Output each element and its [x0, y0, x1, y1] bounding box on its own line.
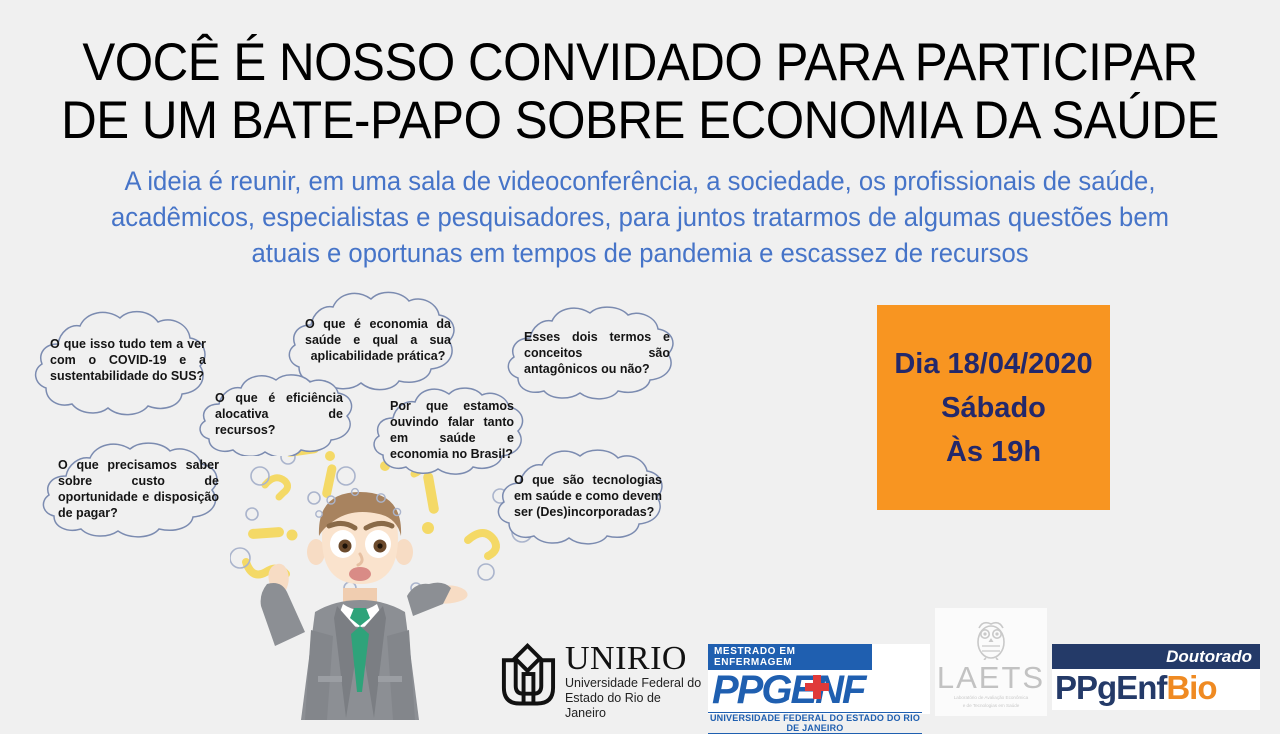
logo-ppgenfbio: Doutorado PPgEnfBio [1052, 644, 1260, 710]
ppgenf-bottom-label: UNIVERSIDADE FEDERAL DO ESTADO DO RIO DE… [708, 712, 922, 734]
event-date-card: Dia 18/04/2020 Sábado Às 19h [877, 305, 1110, 510]
unirio-wordmark: UNIRIO [565, 642, 703, 676]
thought-bubble-custo-oportunidade: O que precisamos saber sobre custo de op… [36, 440, 241, 538]
page-title: VOCÊ É NOSSO CONVIDADO PARA PARTICIPAR D… [0, 34, 1280, 150]
logo-laets: LAETS Laboratório de Avaliação Econômica… [935, 608, 1047, 716]
laets-wordmark: LAETS [935, 662, 1047, 693]
page-subtitle: A ideia é reunir, em uma sala de videoco… [40, 163, 1240, 271]
red-cross-icon [804, 674, 830, 700]
subtitle-line-1: A ideia é reunir, em uma sala de videoco… [70, 163, 1210, 199]
ppgenfbio-wordmark-dark: PPgEnf [1055, 669, 1166, 706]
logo-unirio: UNIRIO Universidade Federal do Estado do… [498, 642, 703, 712]
owl-icon [973, 616, 1009, 660]
title-line-1: VOCÊ É NOSSO CONVIDADO PARA PARTICIPAR [45, 34, 1235, 92]
unirio-subline-1: Universidade Federal do [565, 676, 703, 691]
thought-bubble-text: O que são tecnologias em saúde e como de… [492, 472, 684, 520]
poster-canvas: VOCÊ É NOSSO CONVIDADO PARA PARTICIPAR D… [0, 0, 1280, 720]
ppgenfbio-wordmark: PPgEnfBio [1052, 669, 1260, 707]
illustration-confused-businessman [215, 480, 505, 720]
thought-bubble-text: O que é economia da saúde e qual a sua a… [283, 316, 473, 364]
laets-subline-2: e de Tecnologias em Saúde [935, 703, 1047, 709]
event-time: Às 19h [946, 430, 1041, 474]
thought-bubble-ouvindo-falar: Por que estamos ouvindo falar tanto em s… [368, 385, 536, 475]
title-line-2: DE UM BATE-PAPO SOBRE ECONOMIA DA SAÚDE [45, 92, 1235, 150]
thought-bubble-text: Esses dois termos e conceitos são antagô… [502, 329, 692, 377]
unirio-subline-2: Estado do Rio de Janeiro [565, 691, 703, 721]
subtitle-line-2: acadêmicos, especialistas e pesquisadore… [70, 199, 1210, 235]
ppgenfbio-top-label: Doutorado [1166, 647, 1252, 667]
thought-bubble-text: O que precisamos saber sobre custo de op… [36, 457, 241, 521]
thought-bubble-text: O que é eficiência alocativa de recursos… [193, 390, 365, 438]
businessman-svg [215, 480, 505, 720]
logo-ppgenf: MESTRADO EM ENFERMAGEM PPGENF UNIVERSIDA… [708, 644, 930, 714]
ppgenfbio-wordmark-accent: Bio [1166, 669, 1216, 706]
ppgenf-wordmark-text: PPGENF [712, 668, 864, 712]
subtitle-line-3: atuais e oportunas em tempos de pandemia… [70, 235, 1210, 271]
unirio-mark-icon [498, 642, 559, 708]
ppgenfbio-top-banner: Doutorado [1052, 644, 1260, 669]
thought-bubble-text: Por que estamos ouvindo falar tanto em s… [368, 398, 536, 462]
ppgenf-top-label: MESTRADO EM ENFERMAGEM [708, 644, 872, 670]
laets-subline-1: Laboratório de Avaliação Econômica [935, 695, 1047, 701]
ppgenf-wordmark: PPGENF [708, 670, 930, 710]
thought-bubble-text: O que isso tudo tem a ver com o COVID-19… [28, 336, 228, 384]
event-weekday: Sábado [941, 386, 1046, 430]
event-date: Dia 18/04/2020 [894, 342, 1092, 386]
